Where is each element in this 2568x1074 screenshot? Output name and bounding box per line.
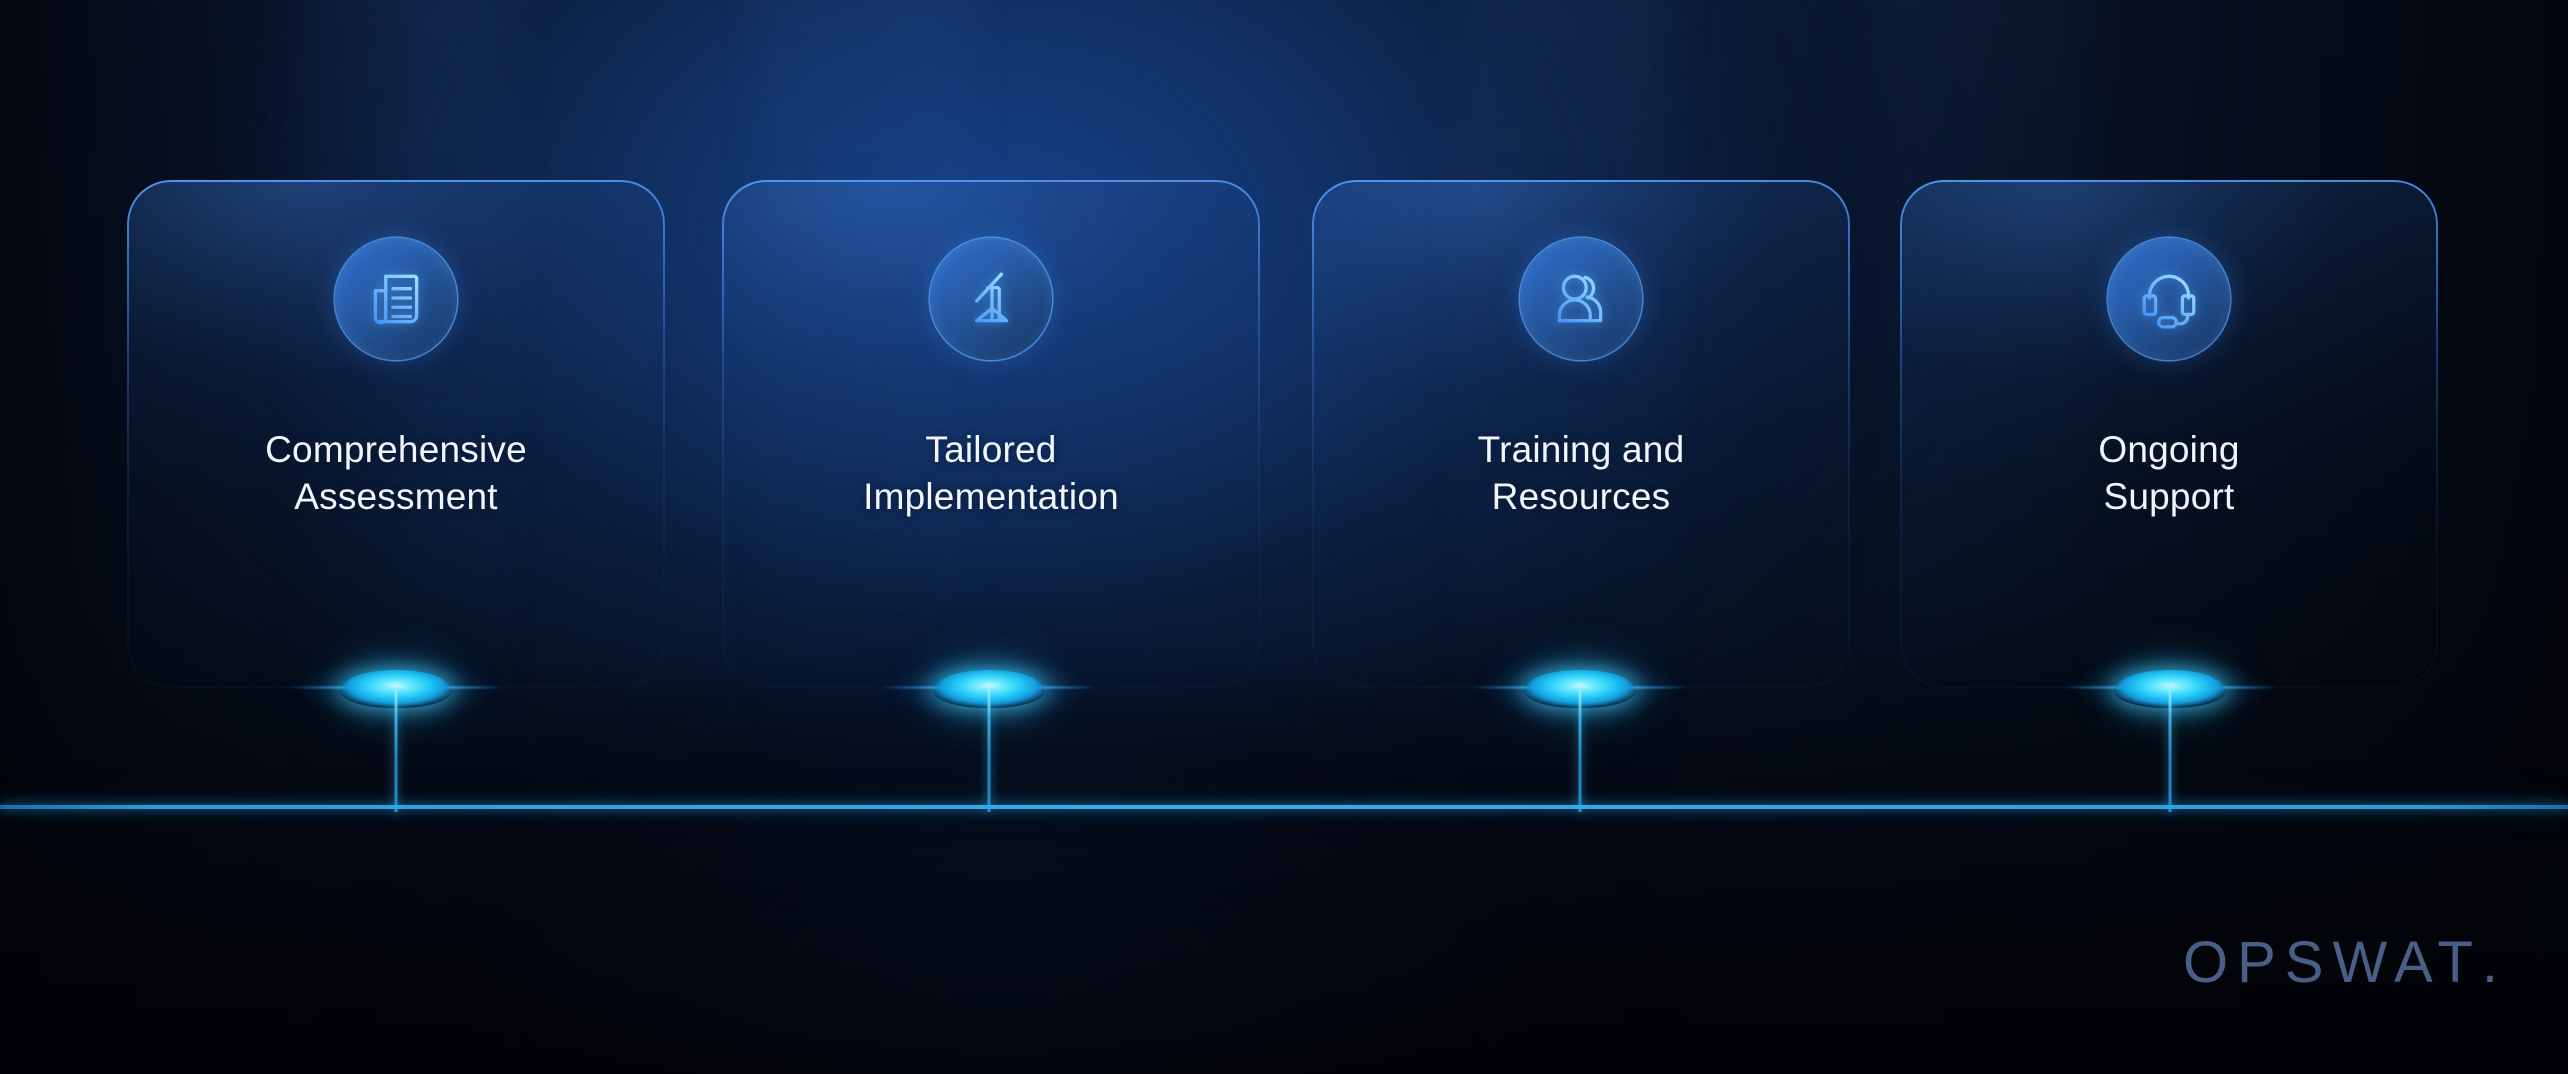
card-label-line1: Tailored <box>748 426 1234 473</box>
card-label: Tailored Implementation <box>722 426 1260 521</box>
card-label-line2: Assessment <box>153 473 639 520</box>
opswat-logo-period: . <box>2482 929 2498 996</box>
card-label: Training and Resources <box>1312 426 1850 521</box>
two-users-icon <box>1520 238 1642 360</box>
card-label-line1: Ongoing <box>1926 426 2412 473</box>
slide-canvas: Comprehensive Assessment <box>0 0 2568 1074</box>
headset-support-icon <box>2108 238 2230 360</box>
document-lines-icon <box>335 238 457 360</box>
card-label-line1: Training and <box>1338 426 1824 473</box>
card-label-line2: Implementation <box>748 473 1234 520</box>
card-label-line2: Support <box>1926 473 2412 520</box>
process-card-list: Comprehensive Assessment <box>0 0 2568 1074</box>
process-card-tailored-implementation[interactable]: Tailored Implementation <box>722 180 1260 688</box>
card-label-line1: Comprehensive <box>153 426 639 473</box>
process-card-training-and-resources[interactable]: Training and Resources <box>1312 180 1850 688</box>
opswat-logo: OPSWAT . <box>2183 929 2498 996</box>
timeline-rail <box>0 805 2568 809</box>
opswat-logo-wordmark: OPSWAT <box>2183 929 2482 996</box>
dress-form-mannequin-icon <box>930 238 1052 360</box>
card-label-line2: Resources <box>1338 473 1824 520</box>
process-card-comprehensive-assessment[interactable]: Comprehensive Assessment <box>127 180 665 688</box>
card-label: Comprehensive Assessment <box>127 426 665 521</box>
card-label: Ongoing Support <box>1900 426 2438 521</box>
process-card-ongoing-support[interactable]: Ongoing Support <box>1900 180 2438 688</box>
